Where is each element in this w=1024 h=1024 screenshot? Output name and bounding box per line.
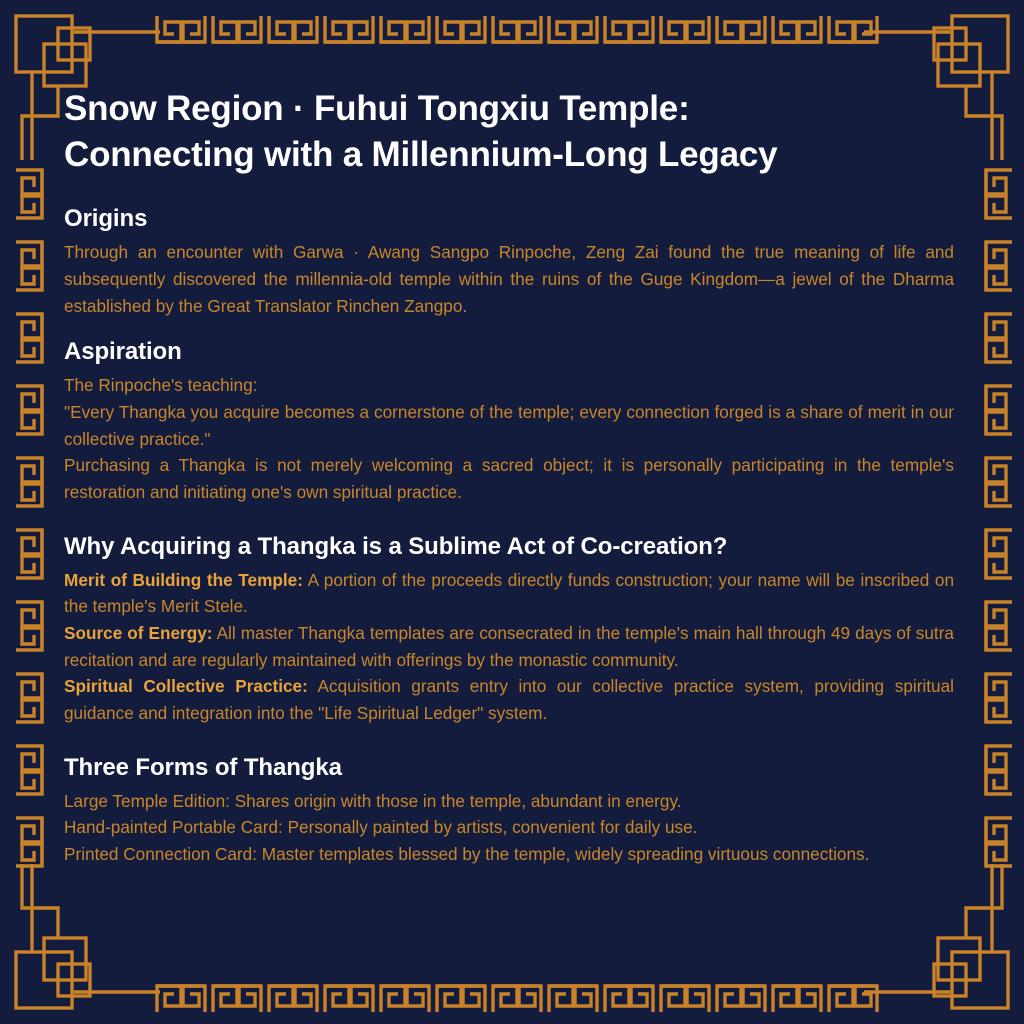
section-origins: Origins Through an encounter with Garwa … xyxy=(64,204,960,319)
section-why-co-creation: Why Acquiring a Thangka is a Sublime Act… xyxy=(64,532,960,727)
section-heading-why: Why Acquiring a Thangka is a Sublime Act… xyxy=(64,532,960,562)
section-body-why: Merit of Building the Temple: A portion … xyxy=(64,567,954,727)
border-meander-left xyxy=(16,170,42,866)
border-meander-right xyxy=(986,170,1012,866)
border-meander-bottom xyxy=(157,986,877,1012)
page-title-line-1: Snow Region · Fuhui Tongxiu Temple: xyxy=(64,86,924,132)
why-item-collective-lead: Spiritual Collective Practice: xyxy=(64,676,308,696)
forms-line-printed: Printed Connection Card: Master template… xyxy=(64,841,954,868)
section-three-forms: Three Forms of Thangka Large Temple Edit… xyxy=(64,753,960,868)
aspiration-line-3: Purchasing a Thangka is not merely welco… xyxy=(64,452,954,505)
poster-canvas: Snow Region · Fuhui Tongxiu Temple: Conn… xyxy=(0,0,1024,1024)
origins-paragraph: Through an encounter with Garwa · Awang … xyxy=(64,239,954,319)
poster-content: Snow Region · Fuhui Tongxiu Temple: Conn… xyxy=(64,86,960,946)
why-item-merit: Merit of Building the Temple: A portion … xyxy=(64,567,954,620)
why-item-merit-lead: Merit of Building the Temple: xyxy=(64,570,303,590)
forms-line-hand-painted: Hand-painted Portable Card: Personally p… xyxy=(64,814,954,841)
why-item-collective: Spiritual Collective Practice: Acquisiti… xyxy=(64,673,954,726)
forms-line-large-temple: Large Temple Edition: Shares origin with… xyxy=(64,788,954,815)
section-body-aspiration: The Rinpoche's teaching: "Every Thangka … xyxy=(64,372,954,505)
border-meander-top xyxy=(157,16,877,42)
section-aspiration: Aspiration The Rinpoche's teaching: "Eve… xyxy=(64,337,960,505)
section-heading-forms: Three Forms of Thangka xyxy=(64,753,960,783)
section-heading-aspiration: Aspiration xyxy=(64,337,960,367)
section-body-origins: Through an encounter with Garwa · Awang … xyxy=(64,239,954,319)
aspiration-quote: "Every Thangka you acquire becomes a cor… xyxy=(64,399,954,452)
section-body-forms: Large Temple Edition: Shares origin with… xyxy=(64,788,954,868)
why-item-energy: Source of Energy: All master Thangka tem… xyxy=(64,620,954,673)
page-title: Snow Region · Fuhui Tongxiu Temple: Conn… xyxy=(64,86,924,178)
page-title-line-2: Connecting with a Millennium-Long Legacy xyxy=(64,132,924,178)
section-heading-origins: Origins xyxy=(64,204,960,234)
why-item-energy-lead: Source of Energy: xyxy=(64,623,213,643)
aspiration-line-1: The Rinpoche's teaching: xyxy=(64,372,954,399)
